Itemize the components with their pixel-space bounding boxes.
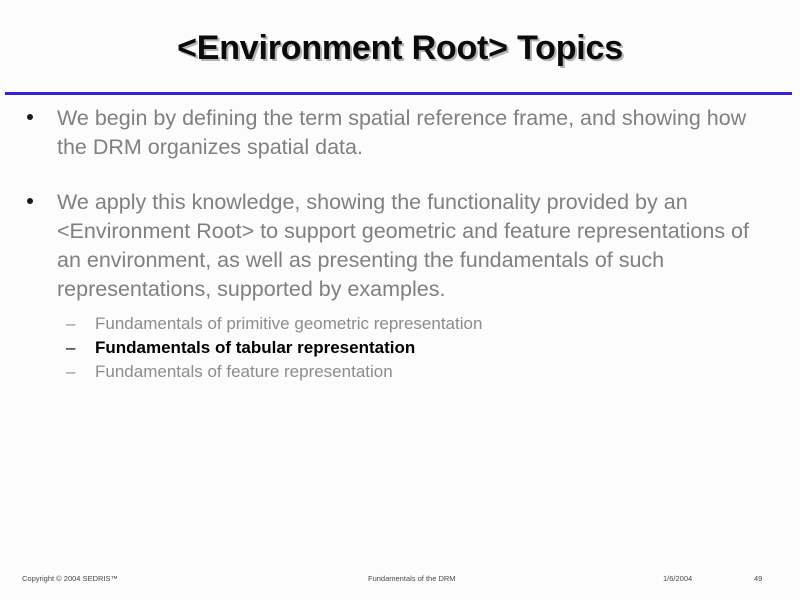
spacer-between-bullets [0,162,800,188]
sub-bullet-item-1-text: Fundamentals of primitive geometric repr… [95,314,482,333]
bullet-item-1-text: We begin by defining the term spatial re… [57,104,775,162]
bullet-dot-icon [27,114,33,120]
footer-date: 1/6/2004 [663,574,692,583]
sub-bullet-item-2: – Fundamentals of tabular representation [0,336,800,360]
en-dash-icon: – [66,312,75,336]
bullet-dot-icon [27,198,33,204]
spacer-before-sub-bullets [0,304,800,312]
sub-bullet-item-2-text: Fundamentals of tabular representation [95,338,415,357]
slide-body: We begin by defining the term spatial re… [0,104,800,384]
slide-canvas: <Environment Root> Topics We begin by de… [0,0,800,600]
sub-bullet-item-3: – Fundamentals of feature representation [0,360,800,384]
slide-footer: Copyright © 2004 SEDRIS™ Fundamentals of… [0,572,800,586]
footer-page-number: 49 [754,574,762,583]
bullet-item-2: We apply this knowledge, showing the fun… [0,188,800,304]
en-dash-icon: – [66,360,75,384]
page-title: <Environment Root> Topics [177,29,623,68]
en-dash-icon: – [66,336,75,360]
bullet-item-1: We begin by defining the term spatial re… [0,104,800,162]
footer-deck-title: Fundamentals of the DRM [368,574,456,583]
sub-bullet-item-3-text: Fundamentals of feature representation [95,362,393,381]
bullet-item-2-text: We apply this knowledge, showing the fun… [57,188,775,304]
sub-bullet-item-1: – Fundamentals of primitive geometric re… [0,312,800,336]
slide-title-area: <Environment Root> Topics [0,18,800,78]
title-divider-rule [5,92,792,95]
footer-copyright: Copyright © 2004 SEDRIS™ [22,574,118,583]
